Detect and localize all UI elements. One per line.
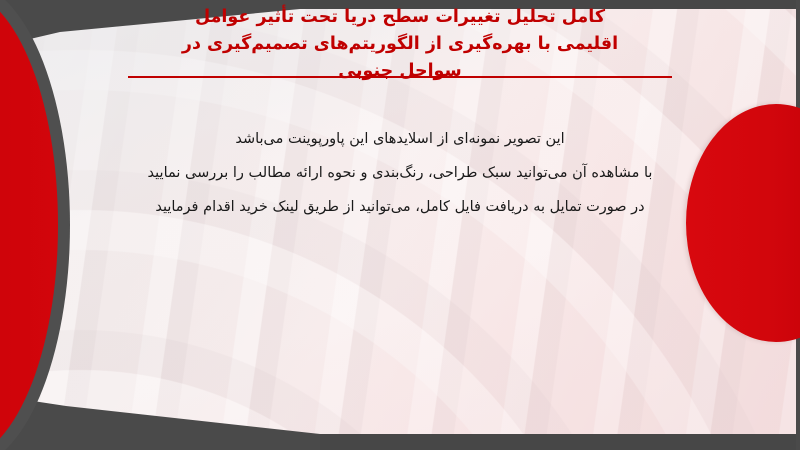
title-line-2: اقلیمی با بهره‌گیری از الگوریتم‌های تصمی… (120, 31, 680, 58)
slide-title: کامل تحلیل تغییرات سطح دریا تحت تأثیر عو… (120, 4, 680, 85)
title-underline-rule (128, 76, 672, 78)
body-line-2: با مشاهده آن می‌توانید سبک طراحی، رنگ‌بن… (110, 156, 690, 190)
slide-body-text: این تصویر نمونه‌ای از اسلایدهای این پاور… (110, 122, 690, 224)
body-line-1: این تصویر نمونه‌ای از اسلایدهای این پاور… (110, 122, 690, 156)
presentation-slide: کامل تحلیل تغییرات سطح دریا تحت تأثیر عو… (0, 0, 800, 450)
title-line-1: کامل تحلیل تغییرات سطح دریا تحت تأثیر عو… (120, 4, 680, 31)
title-line-3: سواحل جنوبی (120, 58, 680, 85)
body-line-3: در صورت تمایل به دریافت فایل کامل، می‌تو… (110, 190, 690, 224)
